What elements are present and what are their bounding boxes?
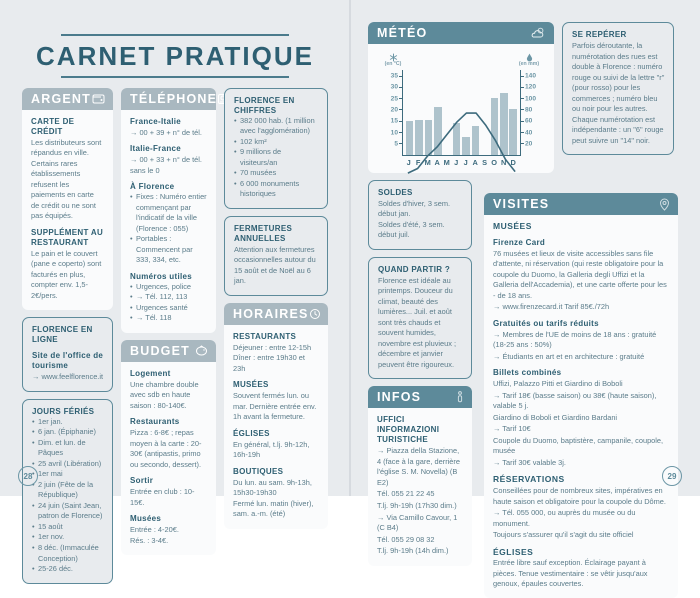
reservations-text: Conseillées pour de nombreux sites, impé… xyxy=(493,486,670,507)
card-infos-body: UFFICI INFORMAZIONI TURISTICHE → Piazza … xyxy=(368,408,472,565)
card-visites-header: VISITES xyxy=(484,193,678,215)
gratuites-title: Gratuités ou tarifs réduits xyxy=(493,319,670,329)
card-telephone: TÉLÉPHONE France-Italie → 00 + 39 + n° d… xyxy=(121,88,216,333)
list-item: 102 km² xyxy=(234,137,319,148)
horaires-section-0-text: Déjeuner : entre 12-15h Dîner : entre 19… xyxy=(233,343,319,375)
gratuites-item-0: → Membres de l'UE de moins de 18 ans : g… xyxy=(493,330,670,351)
list-item: 6 000 monuments historiques xyxy=(234,179,319,200)
list-item: → Tél. 118 xyxy=(130,313,207,324)
billets-item-2: Giardino di Boboli et Giardino Bardani xyxy=(493,413,670,424)
billets-item-5: → Tarif 30€ valable 3j. xyxy=(493,458,670,469)
y-tick-left: 30 xyxy=(391,85,398,92)
horaires-section-3-text: Du lun. au sam. 9h-13h, 15h30-19h30 Ferm… xyxy=(233,478,319,520)
meteo-plot xyxy=(402,70,520,156)
column-telephone: TÉLÉPHONE France-Italie → 00 + 39 + n° d… xyxy=(121,88,216,584)
list-item: 6 jan. (Épiphanie) xyxy=(32,427,104,438)
rain-unit-label: (en mm) xyxy=(519,62,539,68)
tel-section-1-text: → 00 + 33 + n° de tél. sans le 0 xyxy=(130,155,207,176)
card-visites-title: VISITES xyxy=(493,197,549,211)
list-item: Urgences, police xyxy=(130,282,207,293)
se-reperer-text: Parfois déroutante, la numérotation des … xyxy=(572,41,665,146)
spread: CARNET PRATIQUE ARGENT CARTE DE CRÉDIT L… xyxy=(0,0,700,496)
y-tick-left: 15 xyxy=(391,118,398,125)
infos-entry-4: Tél. 055 29 08 32 xyxy=(377,535,463,546)
list-item: 70 musées xyxy=(234,168,319,179)
wallet-icon xyxy=(92,93,105,104)
horaires-section-1-text: Souvent fermés lun. ou mar. Dernière ent… xyxy=(233,391,319,423)
y-tick-left: 10 xyxy=(391,130,398,137)
list-item: 8 déc. (Immaculée Conception) xyxy=(32,543,104,564)
sun-cloud-icon xyxy=(530,27,546,39)
column-horaires: FLORENCE EN CHIFFRES 382 000 hab. (1 mil… xyxy=(224,88,328,584)
eglises-title: ÉGLISES xyxy=(493,547,670,558)
list-item: 1er nov. xyxy=(32,532,104,543)
infos-entry-3: → Via Camillo Cavour, 1 (C B4) xyxy=(377,513,463,534)
card-telephone-title: TÉLÉPHONE xyxy=(130,92,217,106)
quand-partir-body: QUAND PARTIR ? Florence est idéale au pr… xyxy=(369,258,471,379)
card-fermetures: FERMETURES ANNUELLES Attention aux ferme… xyxy=(224,216,328,296)
infos-entry-1: Tél. 055 21 22 45 xyxy=(377,489,463,500)
card-florence-chiffres: FLORENCE EN CHIFFRES 382 000 hab. (1 mil… xyxy=(224,88,328,209)
y-tick-left: 20 xyxy=(391,107,398,114)
card-horaires-header: HORAIRES xyxy=(224,303,328,325)
location-pin-icon xyxy=(659,198,670,211)
y-tick-left: 25 xyxy=(391,96,398,103)
list-item: 25 avril (Libération) xyxy=(32,459,104,470)
list-item: → Tél. 112, 113 xyxy=(130,292,207,303)
budget-section-3-title: Musées xyxy=(130,514,207,524)
horaires-section-2-title: ÉGLISES xyxy=(233,429,319,439)
list-item: 2 juin (Fête de la République) xyxy=(32,480,104,501)
y-tick-right: 80 xyxy=(525,107,532,114)
list-item: 382 000 hab. (1 million avec l'aggloméra… xyxy=(234,116,319,137)
left-columns: ARGENT CARTE DE CRÉDIT Les distributeurs… xyxy=(0,78,350,584)
tel-numeros-list: Urgences, police → Tél. 112, 113 Urgence… xyxy=(130,282,207,324)
budget-section-0-title: Logement xyxy=(130,369,207,379)
firenze-card-title: Firenze Card xyxy=(493,238,670,248)
soldes-title: SOLDES xyxy=(378,188,463,198)
soldes-body: SOLDES Soldes d'hiver, 3 sem. début jan.… xyxy=(369,181,471,249)
left-page: CARNET PRATIQUE ARGENT CARTE DE CRÉDIT L… xyxy=(0,0,350,496)
quand-partir-title: QUAND PARTIR ? xyxy=(378,265,463,275)
meteo-chart: (en °C) (en mm) 5101520253035 xyxy=(368,44,554,173)
card-budget-header: BUDGET xyxy=(121,340,216,362)
page-title: CARNET PRATIQUE xyxy=(30,36,320,76)
billets-item-0: Uffizi, Palazzo Pitti et Giardino di Bob… xyxy=(493,379,670,390)
argent-section-1-title: SUPPLÉMENT AU RESTAURANT xyxy=(31,228,104,248)
billets-item-3: → Tarif 10€ xyxy=(493,424,670,435)
y-tick-right: 60 xyxy=(525,118,532,125)
gratuites-item-1: → Étudiants en art et en architecture : … xyxy=(493,352,670,363)
argent-section-0-title: CARTE DE CRÉDIT xyxy=(31,117,104,137)
column-soldes-infos: SOLDES Soldes d'hiver, 3 sem. début jan.… xyxy=(368,180,472,566)
card-horaires-body: RESTAURANTS Déjeuner : entre 12-15h Dîne… xyxy=(224,325,328,529)
infos-entry-2: T.lj. 9h-19h (17h30 dim.) xyxy=(377,501,463,512)
meteo-y-axis-right: 20406080100120140 xyxy=(520,70,546,156)
card-meteo-title: MÉTÉO xyxy=(377,26,427,40)
billets-title: Billets combinés xyxy=(493,368,670,378)
page-title-block: CARNET PRATIQUE xyxy=(0,0,350,78)
card-infos: INFOS UFFICI INFORMAZIONI TURISTICHE → P… xyxy=(368,386,472,565)
argent-section-1-text: Le pain et le couvert (pane e coperto) s… xyxy=(31,249,104,302)
florence-en-ligne-link[interactable]: → www.feelflorence.it xyxy=(32,372,104,383)
reservations-item-0: → Tél. 055 000, ou auprès du musée ou du… xyxy=(493,508,670,529)
meteo-temp-line xyxy=(403,70,520,187)
fermetures-body: FERMETURES ANNUELLES Attention aux ferme… xyxy=(225,217,327,295)
florence-chiffres-title: FLORENCE EN CHIFFRES xyxy=(234,96,319,116)
florence-chiffres-list: 382 000 hab. (1 million avec l'aggloméra… xyxy=(234,116,319,200)
card-meteo-header: MÉTÉO xyxy=(368,22,554,44)
meteo-y-axis-left: 5101520253035 xyxy=(376,70,402,156)
florence-en-ligne-title: FLORENCE EN LIGNE xyxy=(32,325,104,345)
infos-entry-0: → Piazza della Stazione, 4 (face à la ga… xyxy=(377,446,463,488)
y-tick-right: 40 xyxy=(525,130,532,137)
list-item: Dim. et lun. de Pâques xyxy=(32,438,104,459)
list-item: Fixes : Numéro entier commençant par l'i… xyxy=(130,192,207,234)
horaires-section-1-title: MUSÉES xyxy=(233,380,319,390)
card-argent: ARGENT CARTE DE CRÉDIT Les distributeurs… xyxy=(22,88,113,311)
clock-icon xyxy=(309,308,321,320)
spread-gutter xyxy=(349,0,351,496)
billets-item-1: → Tarif 18€ (basse saison) ou 38€ (haute… xyxy=(493,391,670,412)
budget-section-1-title: Restaurants xyxy=(130,417,207,427)
card-argent-title: ARGENT xyxy=(31,92,91,106)
florence-en-ligne-body: FLORENCE EN LIGNE Site de l'office de to… xyxy=(23,318,112,391)
column-argent: ARGENT CARTE DE CRÉDIT Les distributeurs… xyxy=(22,88,113,584)
se-reperer-title: SE REPÉRER xyxy=(572,30,665,40)
reservations-item-1: Toujours s'assurer qu'il s'agit du site … xyxy=(493,530,670,541)
eglises-text: Entrée libre sauf exception. Éclairage p… xyxy=(493,558,670,590)
card-visites-body: MUSÉES Firenze Card 76 musées et lieux d… xyxy=(484,215,678,598)
budget-section-2-title: Sortir xyxy=(130,476,207,486)
y-tick-right: 120 xyxy=(525,85,536,92)
tel-a-florence-title: À Florence xyxy=(130,182,207,192)
florence-chiffres-body: FLORENCE EN CHIFFRES 382 000 hab. (1 mil… xyxy=(225,89,327,208)
list-item: Portables : Commencent par 333, 334, etc… xyxy=(130,234,207,266)
visites-musees-title: MUSÉES xyxy=(493,221,670,232)
argent-section-0-text: Les distributeurs sont répandus en ville… xyxy=(31,138,104,222)
tel-section-0-title: France-Italie xyxy=(130,117,207,127)
card-horaires-title: HORAIRES xyxy=(233,307,309,321)
right-page: MÉTÉO (en °C) xyxy=(350,0,700,496)
card-infos-header: INFOS xyxy=(368,386,472,408)
info-icon xyxy=(456,391,464,403)
reservations-title: RÉSERVATIONS xyxy=(493,474,670,485)
y-tick-left: 5 xyxy=(394,141,398,148)
temp-unit-label: (en °C) xyxy=(385,62,402,68)
budget-section-3-text: Entrée : 4-20€. Rés. : 3-4€. xyxy=(130,525,207,546)
list-item: Urgences santé xyxy=(130,303,207,314)
card-quand-partir: QUAND PARTIR ? Florence est idéale au pr… xyxy=(368,257,472,380)
card-telephone-body: France-Italie → 00 + 39 + n° de tél. Ita… xyxy=(121,110,216,333)
piggy-bank-icon xyxy=(195,345,208,356)
card-infos-title: INFOS xyxy=(377,390,421,404)
page-number-right: 29 xyxy=(662,466,682,486)
infos-title: UFFICI INFORMAZIONI TURISTICHE xyxy=(377,415,463,445)
list-item: 1er mai xyxy=(32,469,104,480)
florence-en-ligne-subtitle: Site de l'office de tourisme xyxy=(32,351,104,371)
tel-section-0-text: → 00 + 39 + n° de tél. xyxy=(130,128,207,139)
tel-section-1-title: Italie-France xyxy=(130,144,207,154)
card-telephone-header: TÉLÉPHONE xyxy=(121,88,216,110)
budget-section-2-text: Entrée en club : 10-15€. xyxy=(130,487,207,508)
billets-item-4: Coupole du Duomo, baptistère, campanile,… xyxy=(493,436,670,457)
card-argent-body: CARTE DE CRÉDIT Les distributeurs sont r… xyxy=(22,110,113,311)
list-item: 24 juin (Saint Jean, patron de Florence) xyxy=(32,501,104,522)
firenze-card-text: 76 musées et lieux de visite accessibles… xyxy=(493,249,670,302)
y-tick-right: 100 xyxy=(525,96,536,103)
card-visites: VISITES MUSÉES Firenze Card 76 musées et… xyxy=(484,193,678,598)
list-item: 15 août xyxy=(32,522,104,533)
horaires-section-2-text: En général, t.lj. 9h-12h, 16h-19h xyxy=(233,440,319,461)
quand-partir-text: Florence est idéale au printemps. Douceu… xyxy=(378,276,463,371)
jours-feries-body: JOURS FÉRIÉS 1er jan. 6 jan. (Épiphanie)… xyxy=(23,400,112,583)
card-horaires: HORAIRES RESTAURANTS Déjeuner : entre 12… xyxy=(224,303,328,529)
list-item: 25-26 déc. xyxy=(32,564,104,575)
soldes-text: Soldes d'hiver, 3 sem. début jan. Soldes… xyxy=(378,199,463,241)
card-budget-title: BUDGET xyxy=(130,344,190,358)
card-budget: BUDGET Logement Une chambre double avec … xyxy=(121,340,216,556)
card-meteo: MÉTÉO (en °C) xyxy=(368,22,554,173)
meteo-plot-wrap: 5101520253035 20406080100120140 xyxy=(376,70,546,156)
fermetures-text: Attention aux fermetures occasionnelles … xyxy=(234,245,319,287)
y-tick-right: 20 xyxy=(525,141,532,148)
list-item: 1er jan. xyxy=(32,417,104,428)
y-tick-left: 35 xyxy=(391,73,398,80)
horaires-section-3-title: BOUTIQUES xyxy=(233,467,319,477)
page-number-left: 28 xyxy=(18,466,38,486)
horaires-section-0-title: RESTAURANTS xyxy=(233,332,319,342)
list-item: 9 millions de visiteurs/an xyxy=(234,147,319,168)
infos-entry-5: T.lj. 9h-19h (14h dim.) xyxy=(377,546,463,557)
card-jours-feries: JOURS FÉRIÉS 1er jan. 6 jan. (Épiphanie)… xyxy=(22,399,113,584)
budget-section-0-text: Une chambre double avec sdb en haute sai… xyxy=(130,380,207,412)
tel-a-florence-list: Fixes : Numéro entier commençant par l'i… xyxy=(130,192,207,266)
budget-section-1-text: Pizza : 6-8€ ; repas moyen à la carte : … xyxy=(130,428,207,470)
se-reperer-body: SE REPÉRER Parfois déroutante, la numéro… xyxy=(563,23,673,154)
y-tick-right: 140 xyxy=(525,73,536,80)
card-budget-body: Logement Une chambre double avec sdb en … xyxy=(121,362,216,556)
fermetures-title: FERMETURES ANNUELLES xyxy=(234,224,319,244)
card-soldes: SOLDES Soldes d'hiver, 3 sem. début jan.… xyxy=(368,180,472,250)
jours-feries-title: JOURS FÉRIÉS xyxy=(32,407,104,417)
tel-numeros-title: Numéros utiles xyxy=(130,272,207,282)
card-argent-header: ARGENT xyxy=(22,88,113,110)
card-se-reperer: SE REPÉRER Parfois déroutante, la numéro… xyxy=(562,22,674,155)
firenze-card-link[interactable]: → www.firenzecard.it Tarif 85€./72h xyxy=(493,302,670,313)
card-florence-en-ligne: FLORENCE EN LIGNE Site de l'office de to… xyxy=(22,317,113,392)
